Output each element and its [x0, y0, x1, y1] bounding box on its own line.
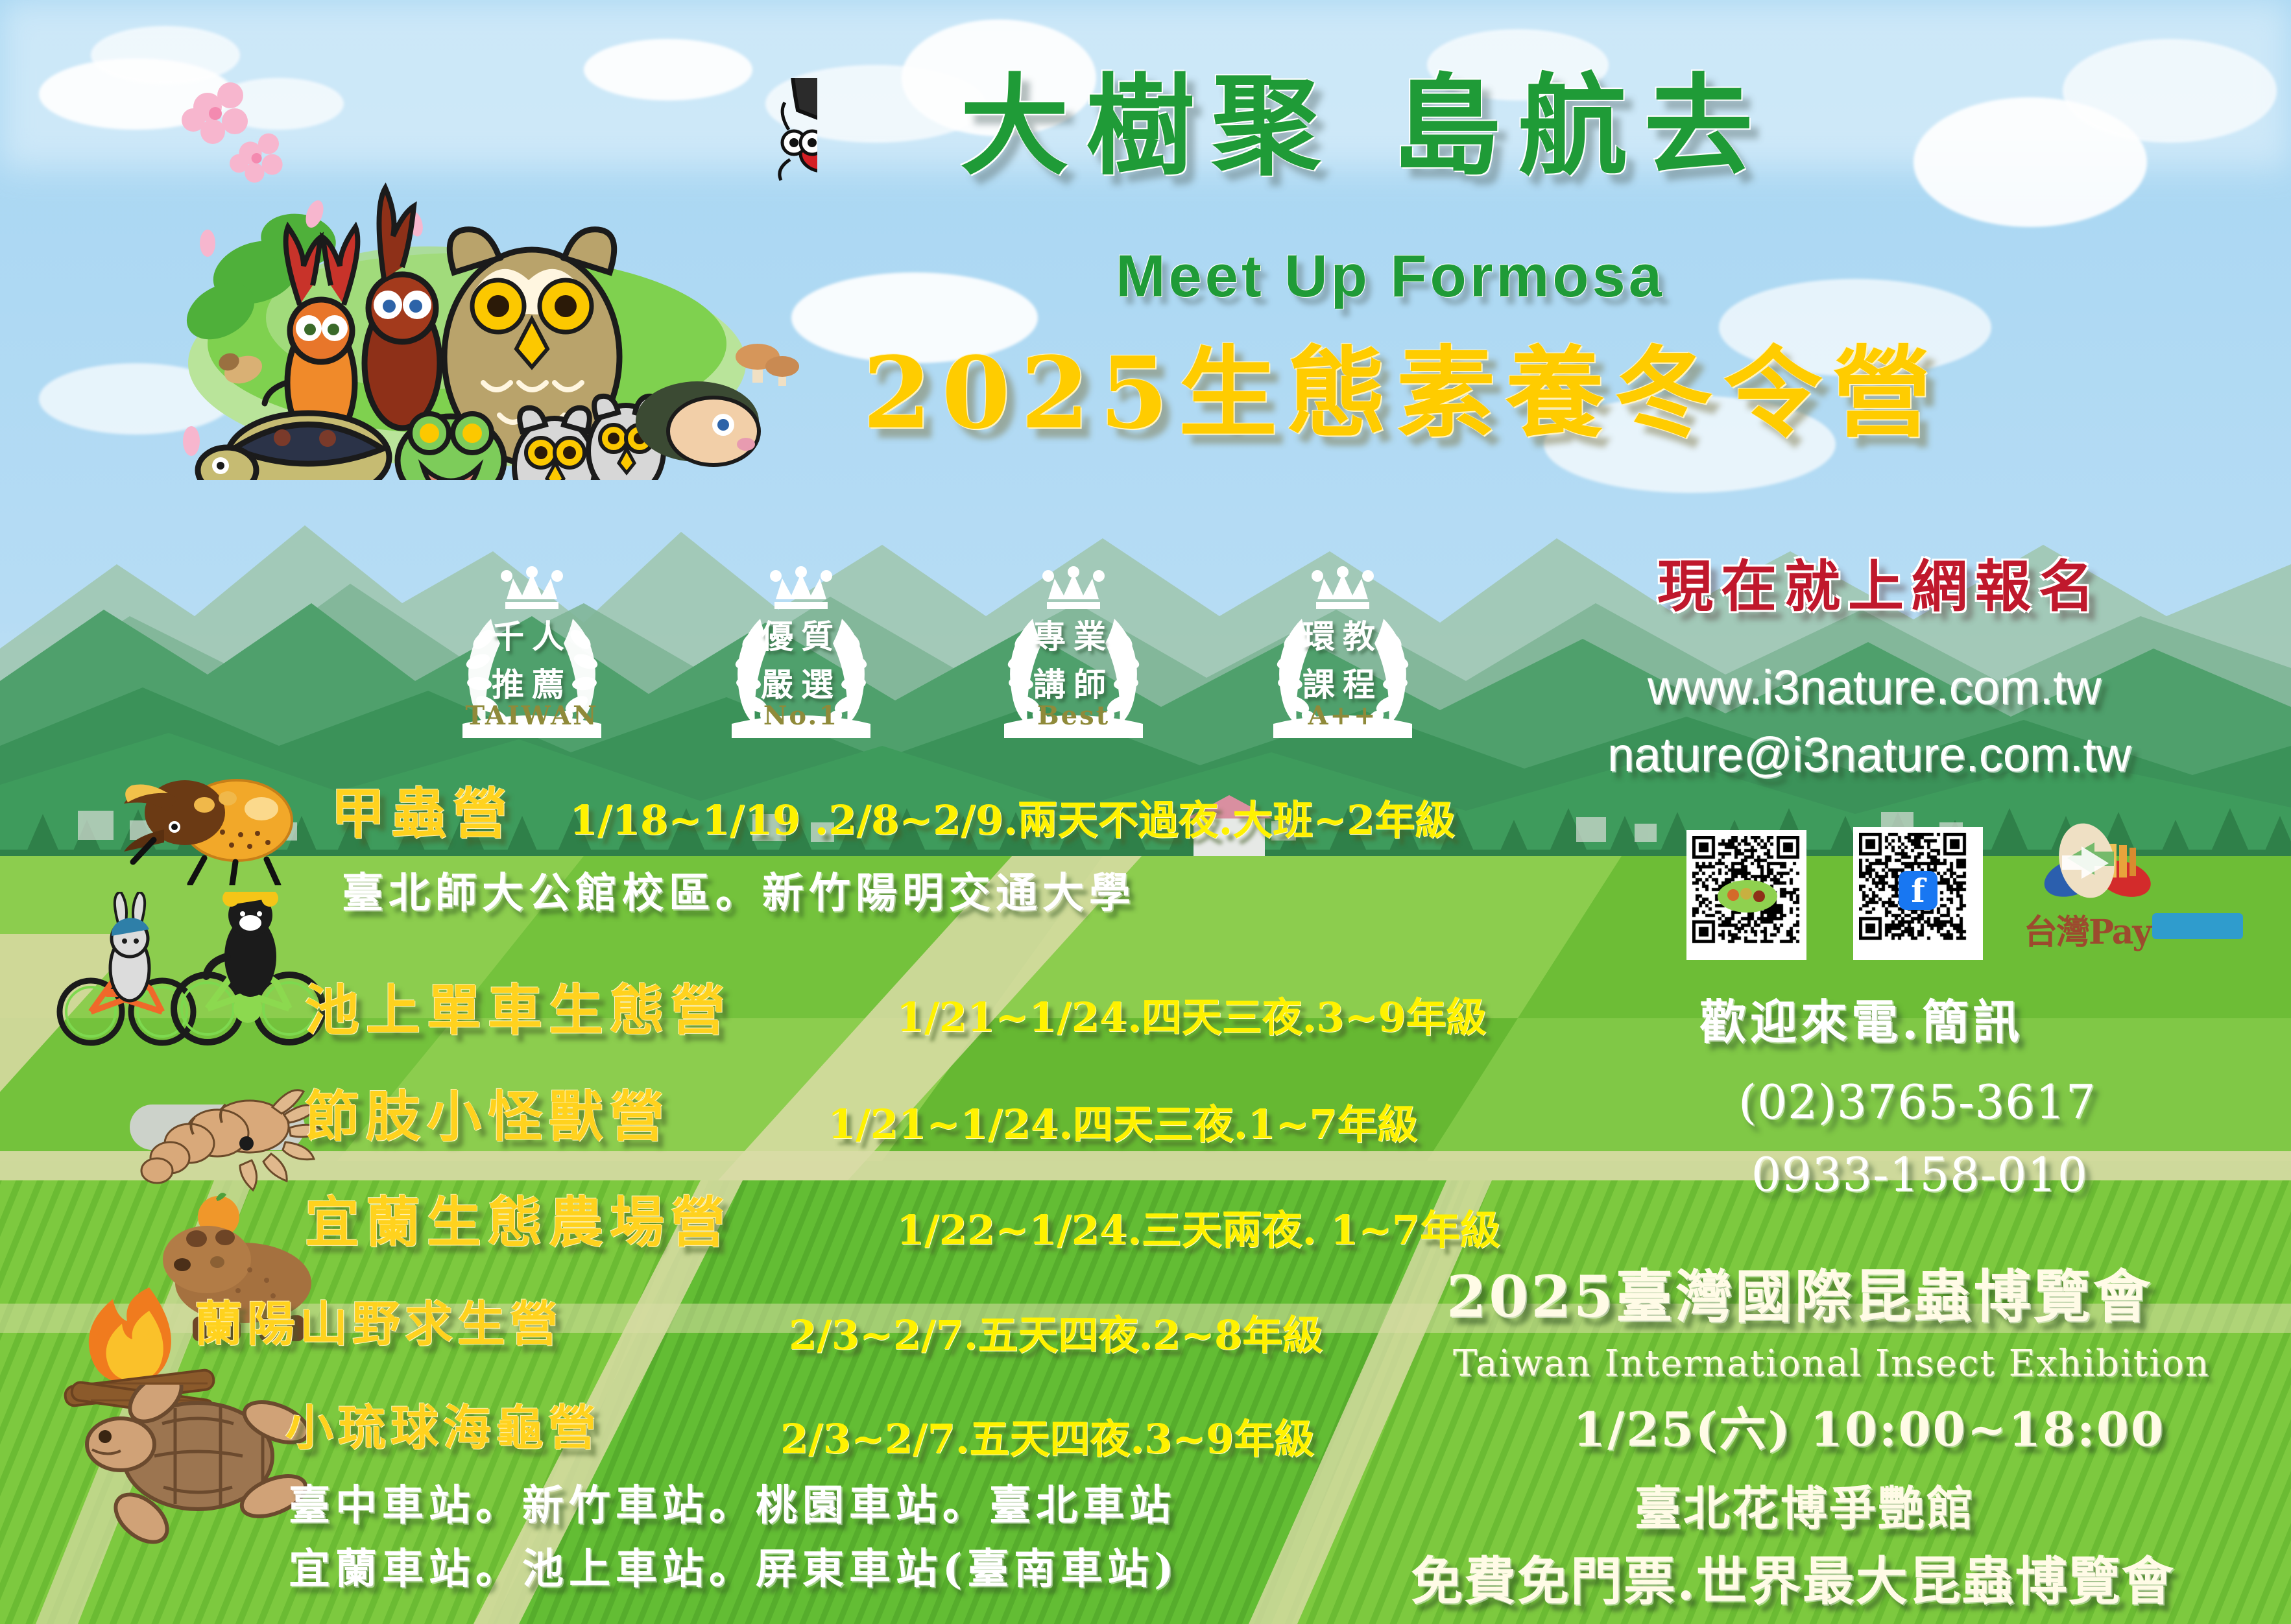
badge-line1: 千人	[451, 611, 613, 658]
facebook-icon[interactable]: f	[1899, 871, 1937, 910]
exhibition-note: 免費免門票.世界最大昆蟲博覽會	[1411, 1555, 2175, 1607]
camp-name: 甲蟲營	[331, 787, 514, 841]
camp-detail: 1/22~1/24.三天兩夜. 1~7年級	[896, 1210, 1500, 1250]
exhibition-title-en: Taiwan International Insect Exhibition	[1453, 1346, 2210, 1382]
badge-line2: 課程	[1262, 659, 1424, 706]
butterfly-icon	[780, 78, 817, 180]
station-list-line2: 宜蘭車站。池上車站。屏東車站(臺南車站)	[289, 1549, 1179, 1590]
camp-detail: 1/18~1/19 .2/8~2/9.兩天不過夜.大班~2年級	[570, 800, 1455, 841]
camp-detail: 1/21~1/24.四天三夜.1~7年級	[828, 1105, 1417, 1145]
phone-primary[interactable]: (02)3765-3617	[1738, 1079, 2096, 1125]
camp-name: 宜蘭生態農場營	[305, 1195, 732, 1250]
camp-name: 蘭陽山野求生營	[195, 1300, 562, 1348]
turtle-icon	[198, 413, 389, 480]
website-url[interactable]: www.i3nature.com.tw	[1648, 663, 2101, 711]
station-list-line1: 臺中車站。新竹車站。桃園車站。臺北車站	[289, 1485, 1176, 1527]
taiwan-pay-label: 台灣Pay	[2024, 905, 2151, 953]
badge-ribbon: Best	[992, 700, 1155, 731]
camp-detail: 2/3~2/7.五天四夜.2~8年級	[789, 1315, 1323, 1355]
badge-ribbon: A++	[1262, 700, 1424, 731]
animal-island-illustration	[130, 78, 817, 480]
owlet-icon	[514, 408, 595, 480]
camp-detail: 1/21~1/24.四天三夜.3~9年級	[896, 997, 1486, 1038]
exhibition-datetime: 1/25(六) 10:00~18:00	[1573, 1406, 2165, 1453]
cloud-shape	[2063, 39, 2277, 143]
camp-location: 臺北師大公館校區。新竹陽明交通大學	[342, 873, 1136, 914]
frog-icon	[398, 414, 504, 480]
badge-line2: 講師	[992, 659, 1155, 706]
badge-item: 環教 課程 A++	[1262, 556, 1424, 738]
page-title-zh: 大樹聚 島航去	[960, 71, 1770, 180]
email-address[interactable]: nature@i3nature.com.tw	[1607, 731, 2131, 779]
page-title-year: 2025生態素養冬令營	[863, 344, 1941, 442]
badge-line1: 環教	[1262, 611, 1424, 658]
exhibition-venue: 臺北花博爭艷館	[1635, 1485, 1975, 1532]
taiwan-pay-logo-icon	[2027, 820, 2163, 911]
badge-line1: 專業	[992, 611, 1155, 658]
phone-mobile[interactable]: 0933-158-010	[1751, 1151, 2088, 1198]
badge-item: 專業 講師 Best	[992, 556, 1155, 738]
badge-item: 優質 嚴選 No.1	[720, 556, 882, 738]
contact-heading: 歡迎來電.簡訊	[1699, 999, 2023, 1045]
badge-line1: 優質	[720, 611, 882, 658]
taiwan-pay-bar	[2152, 913, 2243, 939]
stag-beetle-red-icon	[365, 188, 440, 428]
camp-detail: 2/3~2/7.五天四夜.3~9年級	[780, 1419, 1314, 1459]
exhibition-title: 2025臺灣國際昆蟲博覽會	[1446, 1268, 2153, 1325]
qr-center-logo	[1718, 879, 1777, 913]
cloud-shape	[91, 26, 240, 84]
signup-heading: 現在就上網報名	[1657, 559, 2102, 615]
cyclists-icon	[39, 892, 337, 1060]
badge-ribbon: TAIWAN	[451, 700, 613, 731]
badge-item: 千人 推薦 TAIWAN	[451, 556, 613, 738]
rhinoceros-beetle-icon	[107, 762, 328, 885]
camp-name: 池上單車生態營	[305, 983, 732, 1038]
badge-ribbon: No.1	[720, 700, 882, 731]
camp-name: 小琉球海龜營	[285, 1404, 601, 1452]
camp-name: 節肢小怪獸營	[305, 1090, 671, 1144]
page-title-en: Meet Up Formosa	[1116, 246, 1665, 306]
poster-canvas: 大樹聚 島航去 Meet Up Formosa 2025生態素養冬令營	[0, 0, 2291, 1624]
badge-line2: 推薦	[451, 659, 613, 706]
badge-line2: 嚴選	[720, 659, 882, 706]
